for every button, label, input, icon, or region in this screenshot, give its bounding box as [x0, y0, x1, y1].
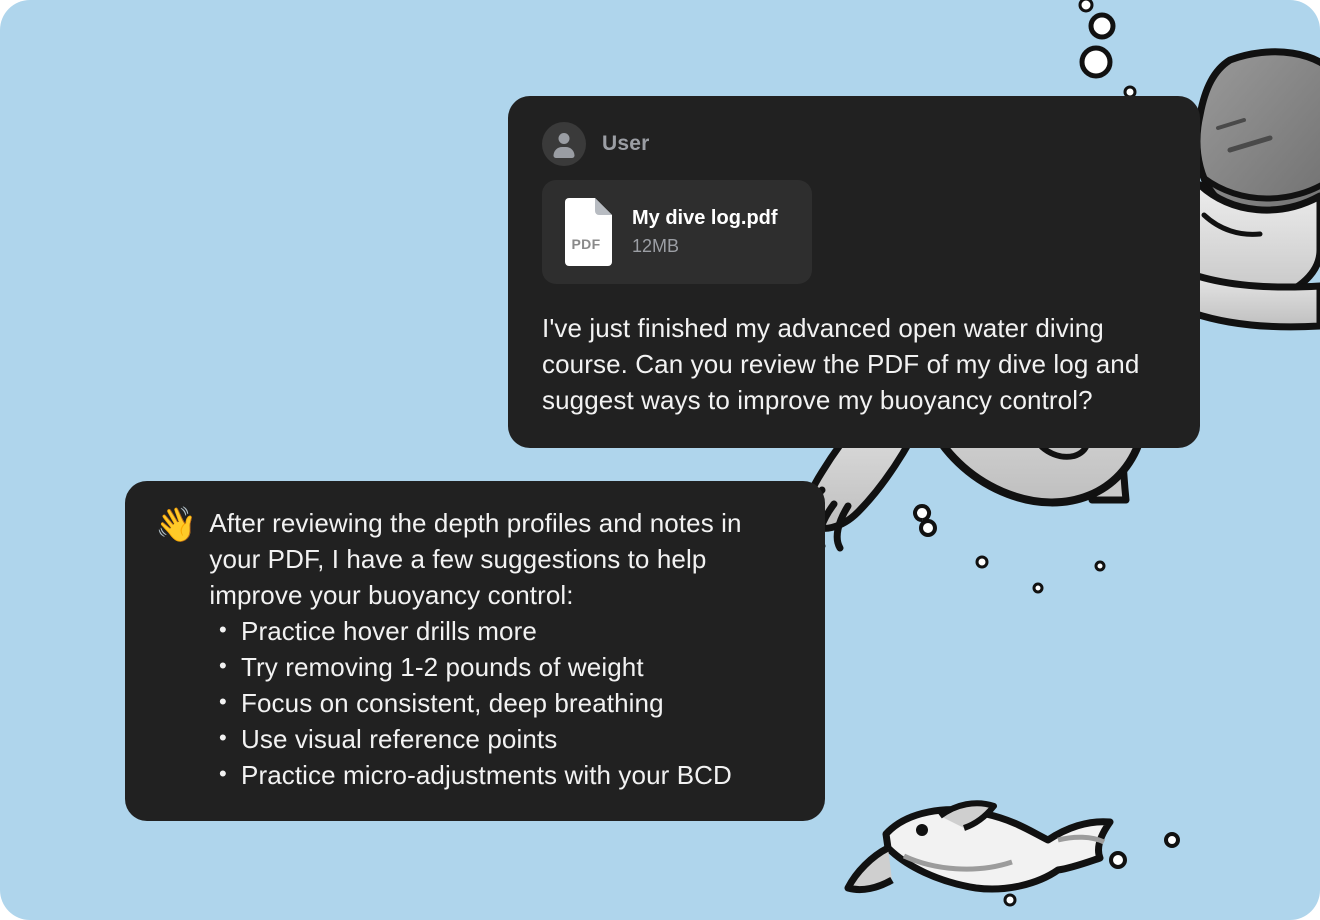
assistant-intro-text: After reviewing the depth profiles and n… — [209, 505, 795, 613]
suggestions-list: Practice hover drills more Try removing … — [155, 613, 795, 793]
list-item: Try removing 1-2 pounds of weight — [219, 649, 795, 685]
avatar-body-shape — [554, 147, 575, 158]
list-item: Practice micro-adjustments with your BCD — [219, 757, 795, 793]
assistant-intro: 👋 After reviewing the depth profiles and… — [155, 505, 795, 613]
file-attachment-card[interactable]: PDF My dive log.pdf 12MB — [542, 180, 812, 284]
pdf-file-icon: PDF — [560, 198, 614, 266]
file-name: My dive log.pdf — [632, 207, 778, 230]
file-meta: My dive log.pdf 12MB — [632, 207, 778, 257]
list-item: Use visual reference points — [219, 721, 795, 757]
waving-hand-emoji: 👋 — [155, 507, 197, 543]
user-message-text: I've just finished my advanced open wate… — [542, 310, 1166, 418]
scene-canvas: User PDF My dive log.pdf 12MB I've just … — [0, 0, 1320, 920]
fish-illustration — [848, 803, 1110, 889]
avatar-head-shape — [559, 133, 570, 144]
list-item: Practice hover drills more — [219, 613, 795, 649]
assistant-message-bubble: 👋 After reviewing the depth profiles and… — [125, 481, 825, 821]
list-item: Focus on consistent, deep breathing — [219, 685, 795, 721]
user-header: User — [542, 122, 1166, 166]
user-message-bubble: User PDF My dive log.pdf 12MB I've just … — [508, 96, 1200, 448]
sender-name: User — [602, 132, 650, 156]
person-avatar-icon — [542, 122, 586, 166]
file-size: 12MB — [632, 236, 778, 257]
pdf-icon-label: PDF — [560, 236, 612, 252]
